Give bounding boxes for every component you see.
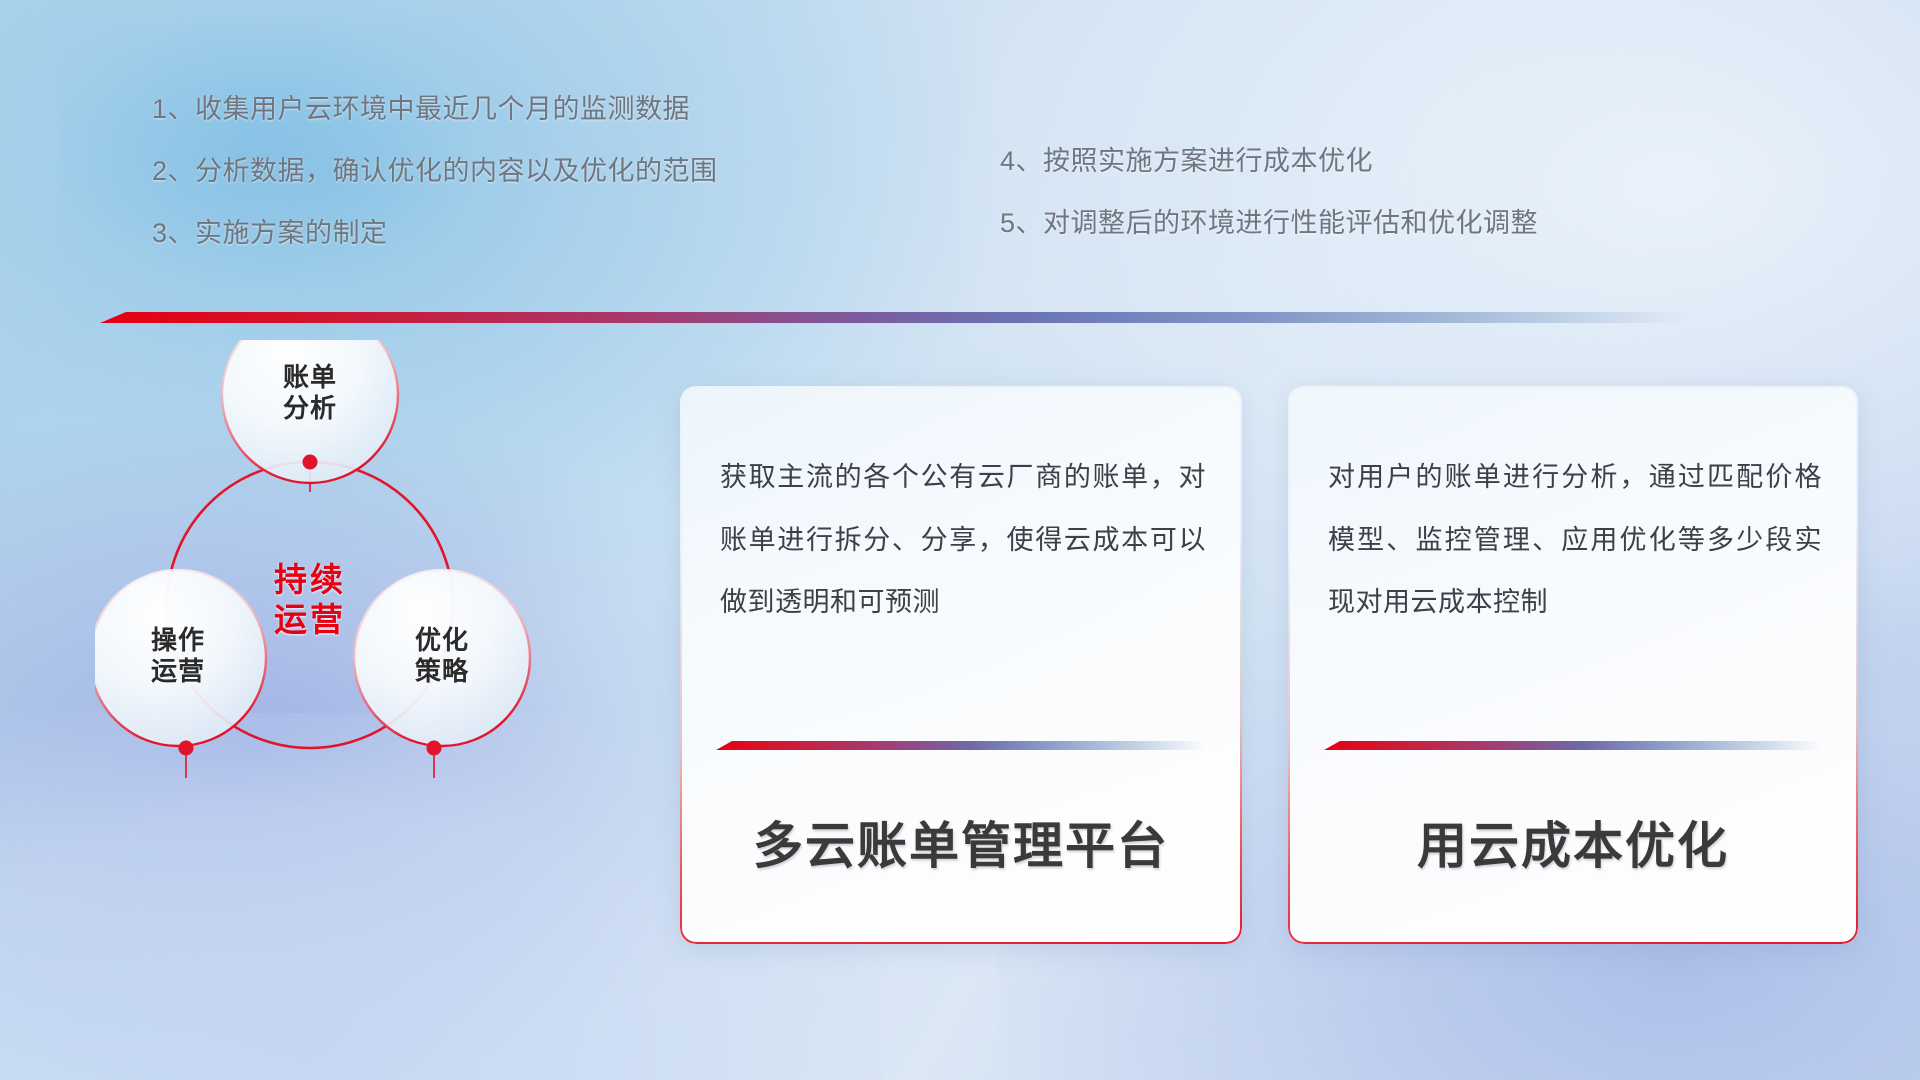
venn-label-operations-line2: 运营	[118, 656, 238, 687]
card-divider	[716, 741, 1206, 750]
step-item-1: 1、收集用户云环境中最近几个月的监测数据	[152, 96, 718, 123]
card-divider	[1324, 741, 1822, 750]
steps-right-column: 4、按照实施方案进行成本优化 5、对调整后的环境进行性能评估和优化调整	[1000, 148, 1538, 272]
venn-center-label-line2: 运营	[235, 600, 385, 640]
section-divider-bar	[100, 312, 1690, 323]
card-body-text: 对用户的账单进行分析，通过匹配价格模型、监控管理、应用优化等多少段实现对用云成本…	[1328, 446, 1822, 634]
venn-label-optimization-strategy: 优化 策略	[382, 625, 502, 686]
feature-card-multi-cloud-billing-platform[interactable]: 获取主流的各个公有云厂商的账单，对账单进行拆分、分享，使得云成本可以做到透明和可…	[680, 386, 1242, 944]
steps-section: 1、收集用户云环境中最近几个月的监测数据 2、分析数据，确认优化的内容以及优化的…	[0, 0, 1920, 300]
venn-label-billing-analysis-line2: 分析	[250, 393, 370, 424]
venn-center-label-line1: 持续	[235, 560, 385, 600]
step-item-4: 4、按照实施方案进行成本优化	[1000, 148, 1538, 175]
card-title: 用云成本优化	[1288, 806, 1858, 878]
node-dot-top	[303, 455, 318, 470]
venn-center-label: 持续 运营	[235, 560, 385, 641]
step-item-5: 5、对调整后的环境进行性能评估和优化调整	[1000, 210, 1538, 237]
node-dot-bottom-right	[427, 741, 442, 756]
card-body-text: 获取主流的各个公有云厂商的账单，对账单进行拆分、分享，使得云成本可以做到透明和可…	[720, 446, 1206, 634]
node-dot-bottom-left	[179, 741, 194, 756]
venn-label-optimization-strategy-line2: 策略	[382, 656, 502, 687]
venn-label-operations: 操作 运营	[118, 625, 238, 686]
step-item-3: 3、实施方案的制定	[152, 220, 718, 247]
venn-label-billing-analysis-line1: 账单	[250, 362, 370, 393]
venn-label-billing-analysis: 账单 分析	[250, 362, 370, 423]
section-divider	[100, 312, 1690, 323]
card-title: 多云账单管理平台	[680, 806, 1242, 878]
steps-left-column: 1、收集用户云环境中最近几个月的监测数据 2、分析数据，确认优化的内容以及优化的…	[152, 96, 718, 282]
continuous-operations-diagram: 账单 分析 操作 运营 优化 策略 持续 运营	[95, 340, 625, 940]
feature-card-cloud-cost-optimization[interactable]: 对用户的账单进行分析，通过匹配价格模型、监控管理、应用优化等多少段实现对用云成本…	[1288, 386, 1858, 944]
venn-label-operations-line1: 操作	[118, 625, 238, 656]
step-item-2: 2、分析数据，确认优化的内容以及优化的范围	[152, 158, 718, 185]
venn-label-optimization-strategy-line1: 优化	[382, 625, 502, 656]
